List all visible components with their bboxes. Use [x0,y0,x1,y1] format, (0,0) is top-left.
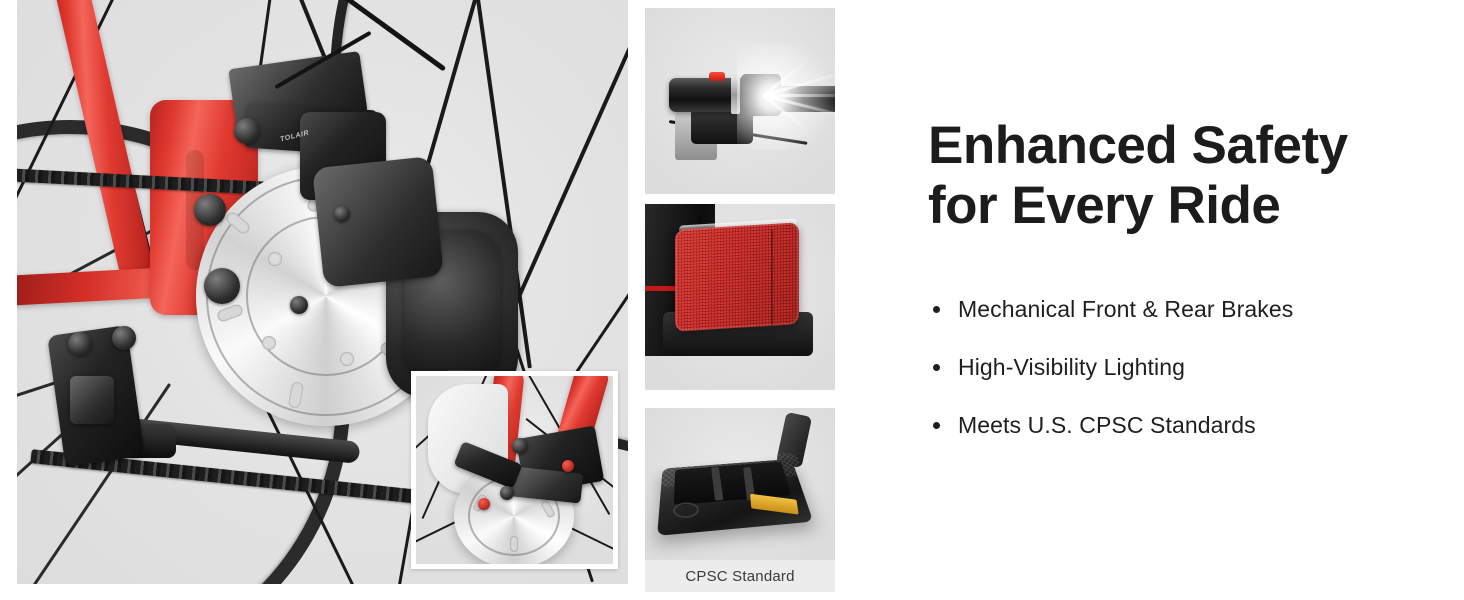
caliper-bolt [234,118,260,144]
copy-column: Enhanced Safety for Every Ride Mechanica… [928,0,1448,600]
bullet-dot-icon [933,364,940,371]
headlight-bezel-ring [731,76,740,114]
headlight-photo [645,8,835,194]
brake-pad-holder [312,156,444,288]
feature-label: Mechanical Front & Rear Brakes [958,294,1293,324]
panel-pedal: CPSC Standard [645,408,835,592]
panel-headlight [645,8,835,194]
list-item: Mechanical Front & Rear Brakes [933,294,1433,324]
rotor-bolt [290,296,308,314]
bullet-dot-icon [933,306,940,313]
hero-brake-image: TOLAIR [0,0,628,584]
inset-bolt [512,438,528,454]
inset-rotor-slot [510,536,518,552]
reflector-lens [675,222,799,332]
feature-list: Mechanical Front & Rear Brakes High-Visi… [933,294,1433,468]
reflector-seam [771,230,773,326]
list-item: High-Visibility Lighting [933,352,1433,382]
product-feature-banner: TOLAIR [0,0,1464,600]
headlight-power-button [709,72,725,81]
pedal-caption: CPSC Standard [645,560,835,592]
hero-left-white-margin [0,0,17,584]
inset-bolt [478,498,490,510]
feature-label: Meets U.S. CPSC Standards [958,410,1256,440]
headline-line-1: Enhanced Safety [928,116,1348,175]
rotor-bolt [334,206,350,222]
feature-label: High-Visibility Lighting [958,352,1185,382]
caliper-bolt [194,194,226,226]
inset-image [416,376,613,564]
panel-rear-reflector [645,204,835,390]
rear-reflector-photo [645,204,835,390]
caliper-bolt [204,268,240,304]
rotor-hole [340,352,354,366]
front-brake-inset-photo [411,371,618,569]
mount-bolt [112,326,136,350]
headline-line-2: for Every Ride [928,176,1428,236]
pedal-photo [645,408,835,560]
mount-bolt [68,332,92,356]
inset-bolt [562,460,574,472]
bullet-dot-icon [933,422,940,429]
list-item: Meets U.S. CPSC Standards [933,410,1433,440]
rotor-hole [268,252,282,266]
page-title: Enhanced Safety for Every Ride [928,116,1428,236]
kickstand-plate [70,376,114,424]
feature-image-panels: CPSC Standard [645,8,835,592]
inset-bolt [500,486,514,500]
rotor-hole [262,336,276,350]
